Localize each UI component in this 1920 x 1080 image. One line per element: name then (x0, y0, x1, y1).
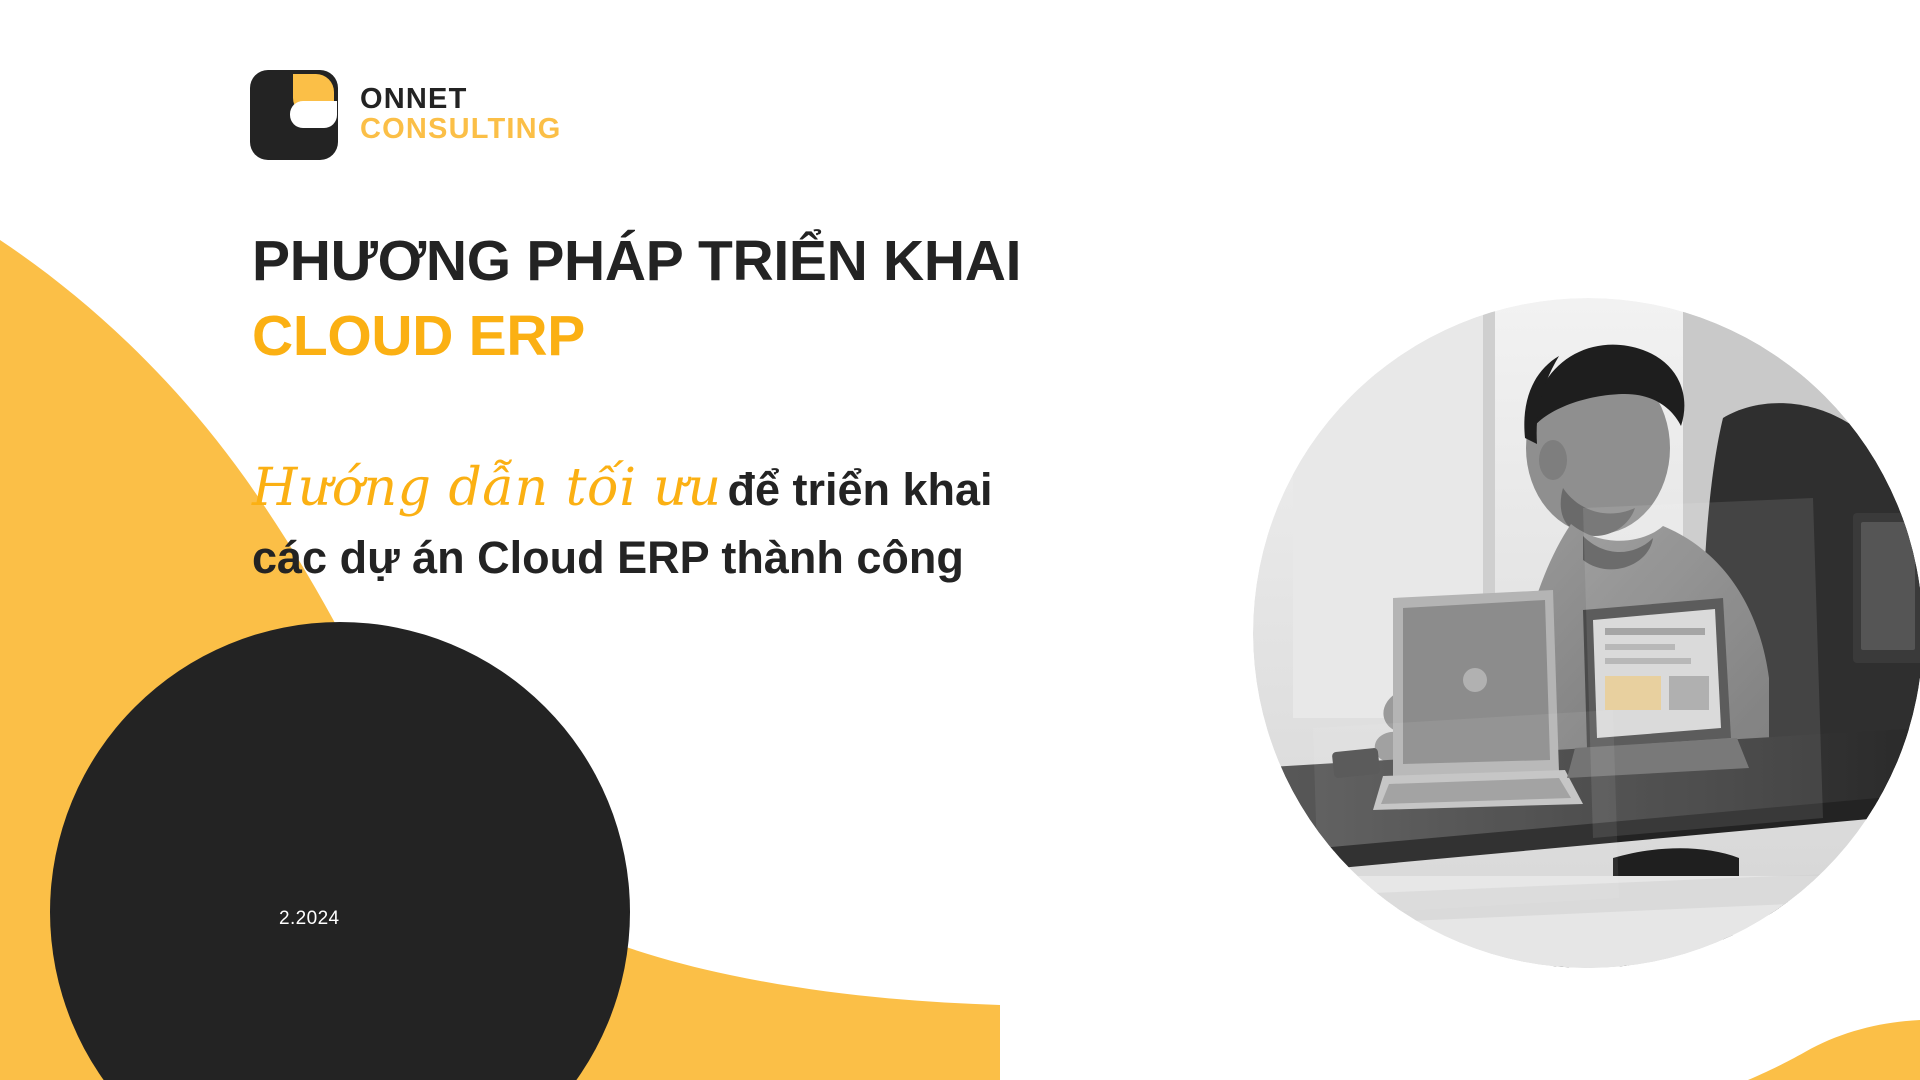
slide-subtitle: Hướng dẫn tối ưuđể triển khai các dự án … (252, 452, 1192, 590)
subtitle-script-phrase: Hướng dẫn tối ưu (252, 458, 727, 518)
onnet-c-mark-icon (250, 70, 338, 160)
presentation-slide: ONNET CONSULTING PHƯƠNG PHÁP TRIỂN KHAI … (0, 0, 1920, 1080)
hero-photo (1253, 298, 1920, 968)
slide-date: 2.2024 (279, 908, 340, 930)
business-meeting-photo (1253, 298, 1920, 968)
yellow-organic-shape-tail (430, 853, 1000, 1080)
title-line-2: CLOUD ERP (252, 303, 1172, 370)
title-line-1: PHƯƠNG PHÁP TRIỂN KHAI (252, 228, 1172, 295)
subtitle-rest-line-1: để triển khai (727, 464, 992, 515)
brand-logo: ONNET CONSULTING (250, 70, 562, 160)
logo-name-primary: ONNET (360, 85, 562, 115)
subtitle-line-2: các dự án Cloud ERP thành công (252, 532, 964, 583)
page-title: PHƯƠNG PHÁP TRIỂN KHAI CLOUD ERP (252, 228, 1172, 371)
logo-name-secondary: CONSULTING (360, 115, 562, 145)
yellow-corner-shape (1748, 1020, 1920, 1080)
logo-wordmark: ONNET CONSULTING (360, 85, 562, 144)
dark-circle-shape (50, 622, 630, 1080)
